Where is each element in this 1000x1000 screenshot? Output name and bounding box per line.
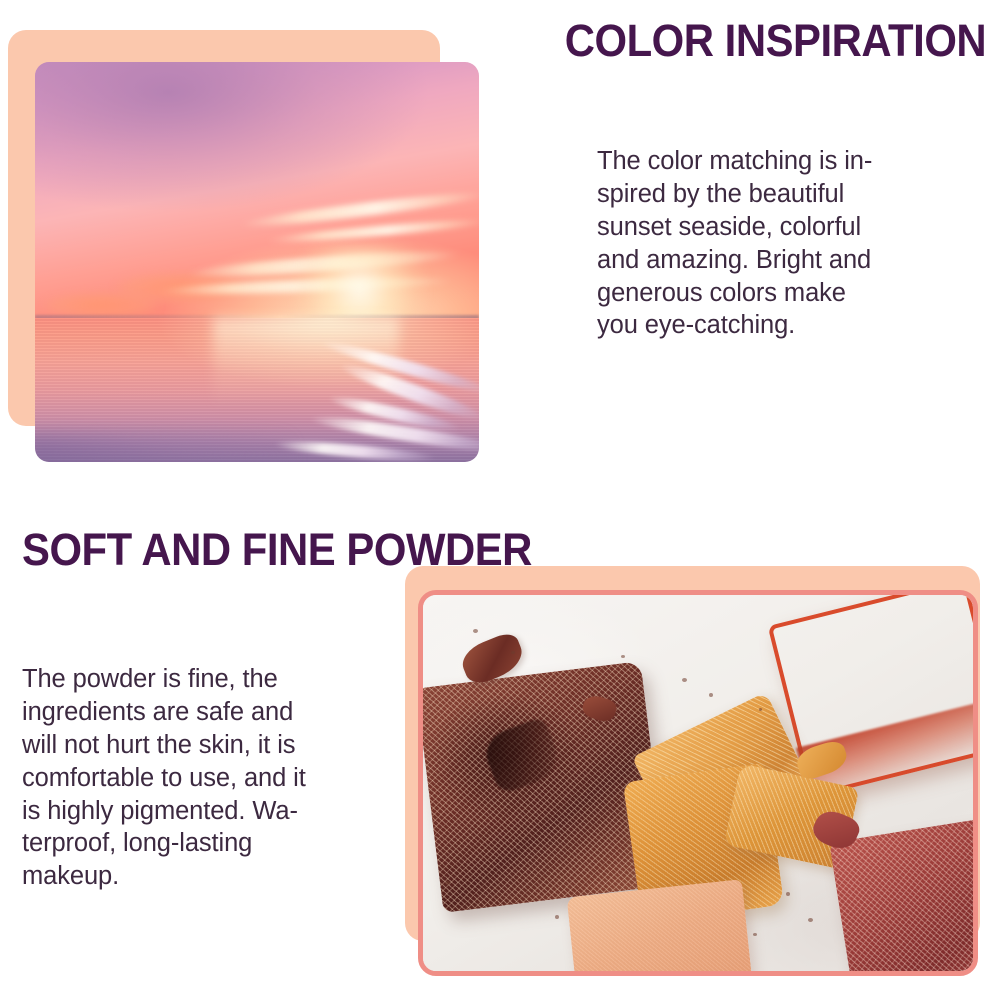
- powder-speck: [621, 655, 625, 658]
- heading-color-inspiration: COLOR INSPIRATION: [565, 18, 986, 63]
- sea-wave-2: [339, 359, 479, 426]
- powder-speck: [511, 651, 515, 654]
- eyeshadow-crumb-gold-1: [794, 738, 850, 782]
- sunset-cloud-streak-3: [186, 247, 462, 280]
- sunset-cloud-streak-2: [266, 216, 479, 246]
- sea-shadow-band: [35, 433, 293, 462]
- powder-speck: [753, 933, 757, 936]
- eyeshadow-pan-brown-glitter: [418, 661, 667, 912]
- sun-glow: [284, 246, 435, 333]
- sunset-cloud-orange-lower: [44, 292, 159, 318]
- sea-wave-4: [310, 412, 479, 457]
- sunset-horizon-line: [35, 315, 479, 321]
- eyeshadow-pan-coral-edge: [796, 698, 978, 797]
- eyeshadow-crumb-brown-2: [580, 692, 618, 724]
- heading-soft-and-fine-powder: SOFT AND FINE POWDER: [22, 527, 532, 572]
- eyeshadow-shard-gold-2: [623, 762, 784, 923]
- sunset-cloud-orange-left: [115, 272, 248, 303]
- sunset-photo-inner: [35, 62, 479, 462]
- powder-speck: [808, 918, 813, 922]
- sea-wave-5: [275, 438, 435, 462]
- powder-speck: [786, 892, 790, 896]
- powder-speck: [682, 678, 687, 682]
- peach-offset-frame-powder: [405, 566, 980, 941]
- powder-photo-inner: [423, 595, 973, 971]
- sunset-cloud-streak-1: [239, 188, 479, 231]
- sea-wave-3: [328, 392, 461, 435]
- sea-ripple-texture: [35, 318, 479, 462]
- eyeshadow-shard-gold-3: [724, 764, 860, 870]
- peach-offset-frame-sunset: [8, 30, 440, 426]
- crushed-eyeshadow-photo: [418, 590, 978, 976]
- paragraph-soft-and-fine-powder: The powder is fine, the ingredients are …: [22, 663, 412, 893]
- powder-speck: [445, 881, 450, 885]
- powder-speck: [555, 915, 559, 919]
- sunset-sky: [35, 62, 479, 318]
- eyeshadow-pan-coral: [768, 590, 978, 797]
- eyeshadow-pan-nude: [566, 879, 753, 976]
- sea-wave-1: [321, 337, 479, 398]
- paragraph-color-inspiration: The color matching is in- spired by the …: [597, 145, 987, 342]
- powder-speck: [473, 629, 478, 633]
- sea-sun-reflection: [213, 318, 399, 407]
- sunset-sea: [35, 318, 479, 462]
- eyeshadow-crumb-brown-1: [457, 630, 527, 688]
- powder-speck: [759, 708, 762, 711]
- powder-white-surface: [423, 595, 973, 971]
- eyeshadow-shard-gold-1: [631, 692, 814, 858]
- sunset-cloud-streak-4: [159, 274, 452, 296]
- powder-speck: [709, 693, 713, 697]
- product-feature-graphic: COLOR INSPIRATION The color matching is …: [0, 0, 1000, 1000]
- eyeshadow-pan-brown-crack: [479, 716, 563, 795]
- eyeshadow-crumb-rose-1: [809, 806, 863, 855]
- eyeshadow-pan-rose-glitter: [829, 815, 978, 976]
- sunset-seaside-photo: [35, 62, 479, 462]
